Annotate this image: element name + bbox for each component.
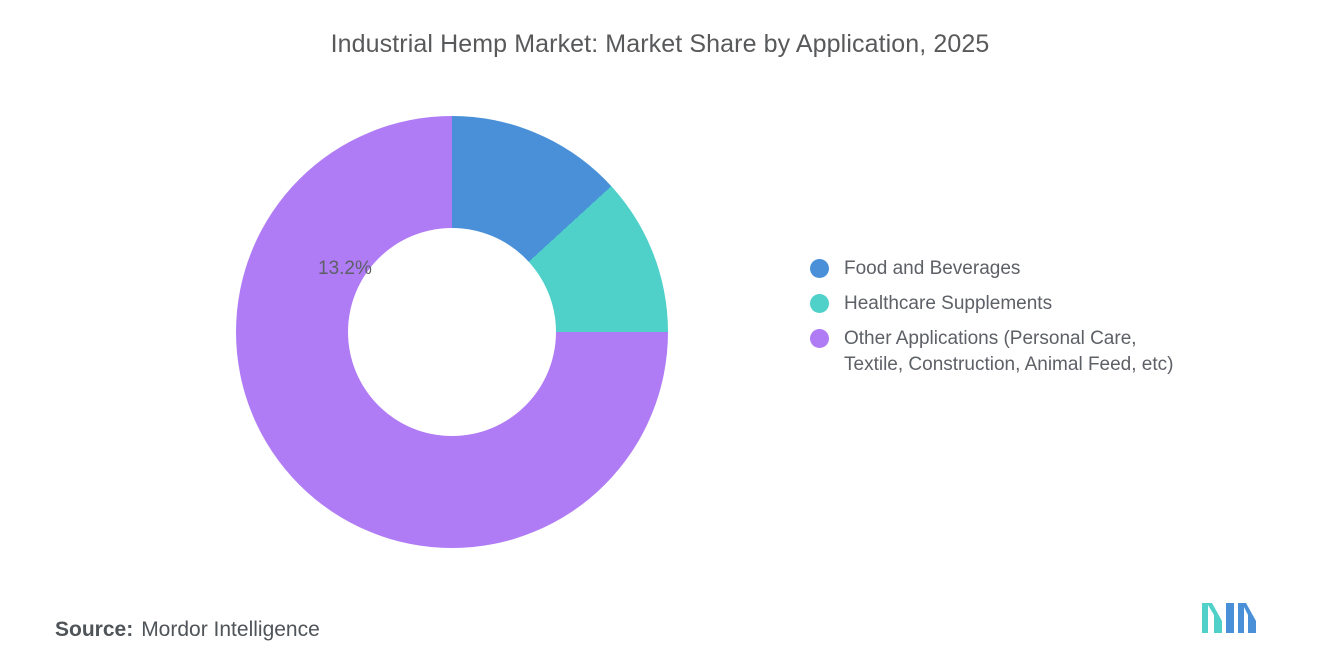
donut-center-hole [348, 228, 556, 436]
legend-item-label: Healthcare Supplements [844, 291, 1052, 317]
page-title: Industrial Hemp Market: Market Share by … [0, 30, 1320, 59]
slice-value-label: 13.2% [318, 258, 372, 280]
legend-item-food-and-beverages[interactable]: Food and Beverages [810, 256, 1280, 282]
legend-item-healthcare-supplements[interactable]: Healthcare Supplements [810, 291, 1280, 317]
legend-color-swatch-icon [810, 294, 829, 313]
donut-chart [236, 116, 668, 548]
source-line: Source:Mordor Intelligence [55, 618, 320, 642]
legend-item-label: Other Applications (Personal Care, Texti… [844, 326, 1173, 378]
source-value: Mordor Intelligence [141, 618, 320, 641]
legend-color-swatch-icon [810, 329, 829, 348]
source-label: Source: [55, 618, 133, 641]
legend-item-other-applications[interactable]: Other Applications (Personal Care, Texti… [810, 326, 1280, 378]
chart-legend: Food and Beverages Healthcare Supplement… [810, 256, 1280, 387]
legend-item-label: Food and Beverages [844, 256, 1020, 282]
mordor-intelligence-logo-icon [1200, 599, 1262, 635]
legend-color-swatch-icon [810, 259, 829, 278]
